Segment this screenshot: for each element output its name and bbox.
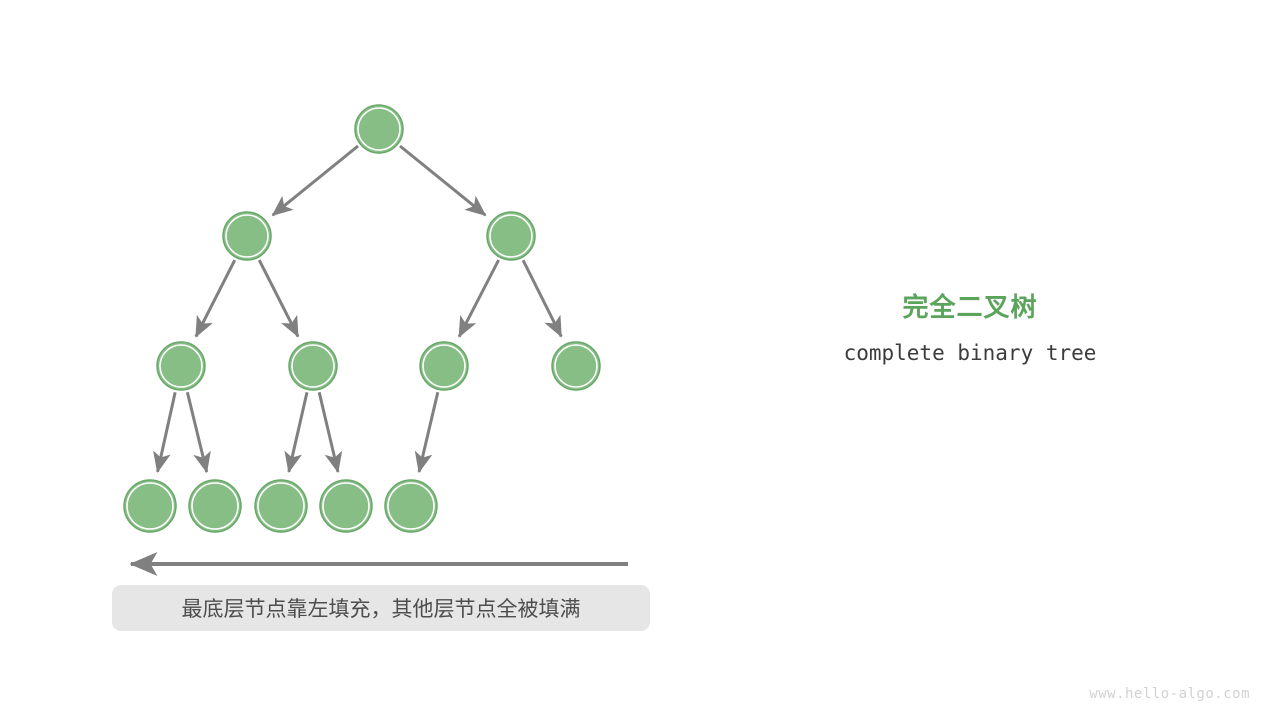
tree-node-fill xyxy=(556,346,596,386)
tree-edge xyxy=(319,392,338,472)
tree-node[interactable] xyxy=(420,342,468,390)
tree-node-fill xyxy=(359,109,399,149)
legend-subtitle: complete binary tree xyxy=(780,341,1160,365)
tree-node[interactable] xyxy=(189,480,241,532)
tree-node-fill xyxy=(491,216,531,256)
tree-node-fill xyxy=(324,484,368,528)
tree-node[interactable] xyxy=(487,212,535,260)
tree-node-fill xyxy=(193,484,237,528)
tree-node-fill xyxy=(128,484,172,528)
legend-block: 完全二叉树 complete binary tree xyxy=(780,292,1160,365)
tree-edge xyxy=(289,392,307,472)
tree-node-fill xyxy=(389,484,433,528)
tree-edge xyxy=(523,260,561,336)
node-layer xyxy=(124,105,600,532)
tree-edge xyxy=(187,392,206,472)
tree-node[interactable] xyxy=(255,480,307,532)
legend-title: 完全二叉树 xyxy=(780,292,1160,323)
tree-node-fill xyxy=(259,484,303,528)
tree-node[interactable] xyxy=(223,212,271,260)
tree-node[interactable] xyxy=(552,342,600,390)
caption-box: 最底层节点靠左填充，其他层节点全被填满 xyxy=(112,585,650,631)
tree-node-fill xyxy=(424,346,464,386)
edge-layer xyxy=(158,146,562,472)
watermark: www.hello-algo.com xyxy=(1089,686,1250,702)
tree-node[interactable] xyxy=(289,342,337,390)
tree-node[interactable] xyxy=(124,480,176,532)
tree-node[interactable] xyxy=(320,480,372,532)
tree-edge xyxy=(196,260,235,336)
tree-edge xyxy=(158,392,176,471)
tree-node-fill xyxy=(161,346,201,386)
tree-node[interactable] xyxy=(157,342,205,390)
tree-node[interactable] xyxy=(385,480,437,532)
tree-edge xyxy=(400,146,485,215)
tree-edge xyxy=(459,260,499,337)
tree-node-fill xyxy=(227,216,267,256)
tree-edge xyxy=(273,146,358,215)
tree-edge xyxy=(419,392,438,472)
tree-node-fill xyxy=(293,346,333,386)
tree-node[interactable] xyxy=(355,105,403,153)
tree-edge xyxy=(259,260,298,336)
caption-text: 最底层节点靠左填充，其他层节点全被填满 xyxy=(182,593,581,623)
